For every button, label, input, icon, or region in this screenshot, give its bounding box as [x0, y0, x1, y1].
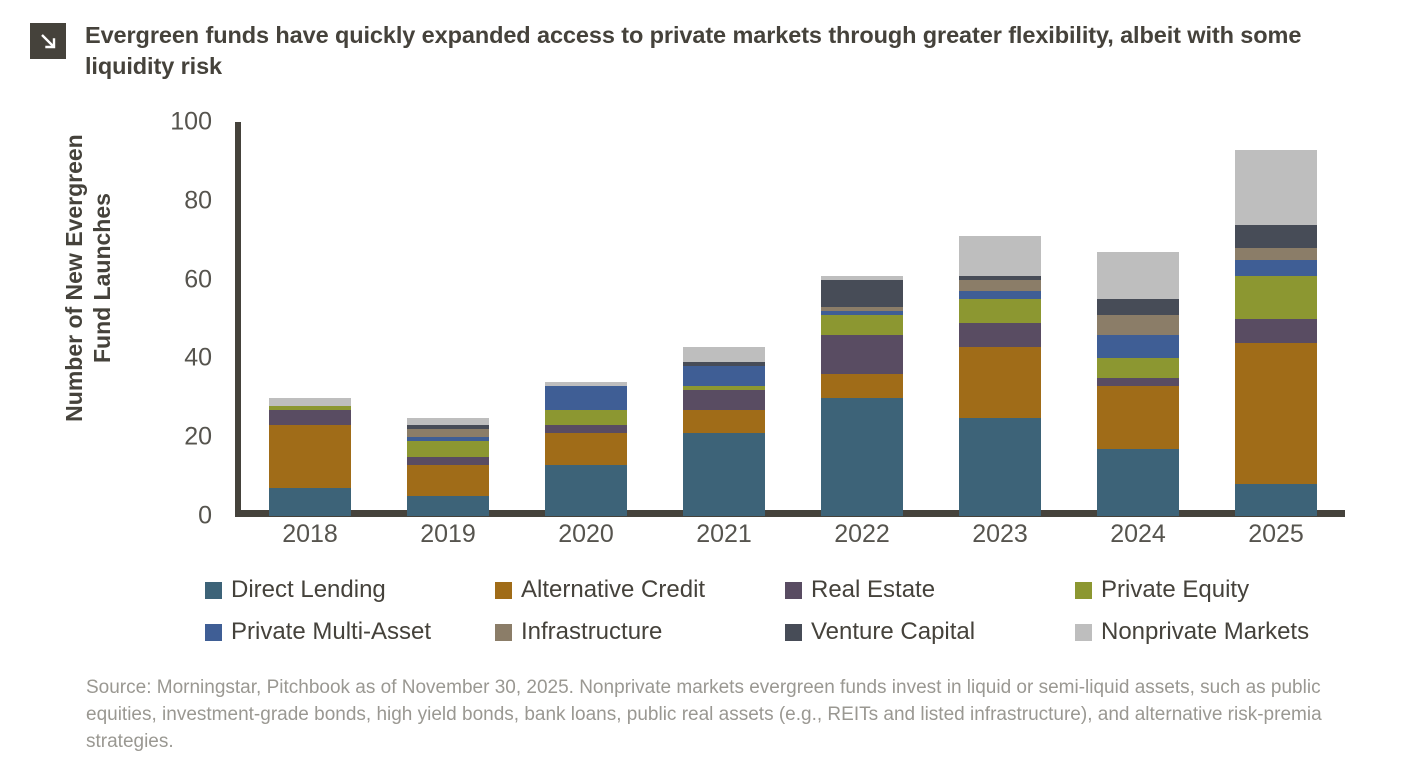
bar-segment[interactable]: [1235, 248, 1317, 260]
legend-label: Private Equity: [1101, 576, 1249, 604]
bar-segment[interactable]: [1097, 386, 1179, 449]
y-axis-title: Number of New Evergreen Fund Launches: [60, 128, 116, 428]
stacked-bar[interactable]: [269, 398, 351, 516]
plot-area: [241, 122, 1345, 516]
bar-segment[interactable]: [545, 386, 627, 410]
legend-item-direct-lending[interactable]: Direct Lending: [205, 576, 495, 604]
bar-segment[interactable]: [959, 418, 1041, 517]
bar-segment[interactable]: [1235, 343, 1317, 485]
bar-segment[interactable]: [1235, 319, 1317, 343]
bar-segment[interactable]: [269, 410, 351, 426]
x-tick-label: 2020: [517, 520, 655, 549]
bar-column-2020[interactable]: [517, 122, 655, 516]
bar-segment[interactable]: [821, 398, 903, 516]
x-tick-label: 2023: [931, 520, 1069, 549]
bar-segment[interactable]: [407, 418, 489, 426]
bar-segment[interactable]: [821, 374, 903, 398]
stacked-bar[interactable]: [821, 276, 903, 516]
bar-segment[interactable]: [269, 398, 351, 406]
bar-segment[interactable]: [1235, 225, 1317, 249]
x-tick-label: 2018: [241, 520, 379, 549]
bar-column-2018[interactable]: [241, 122, 379, 516]
legend-label: Nonprivate Markets: [1101, 618, 1309, 646]
bar-segment[interactable]: [683, 390, 765, 410]
bar-segment[interactable]: [683, 410, 765, 434]
arrow-down-right-icon: [30, 23, 66, 59]
legend-swatch-icon: [495, 582, 512, 599]
bar-segment[interactable]: [959, 347, 1041, 418]
legend-swatch-icon: [495, 624, 512, 641]
bar-segment[interactable]: [1235, 150, 1317, 225]
bar-segment[interactable]: [407, 441, 489, 457]
x-tick-label: 2019: [379, 520, 517, 549]
bar-segment[interactable]: [1235, 276, 1317, 319]
legend-swatch-icon: [1075, 624, 1092, 641]
stacked-bar[interactable]: [959, 236, 1041, 516]
bar-column-2021[interactable]: [655, 122, 793, 516]
stacked-bar[interactable]: [683, 347, 765, 516]
bar-segment[interactable]: [959, 323, 1041, 347]
bar-segment[interactable]: [1097, 378, 1179, 386]
page-title: Evergreen funds have quickly expanded ac…: [85, 20, 1325, 83]
bar-segment[interactable]: [683, 366, 765, 386]
bar-segment[interactable]: [407, 496, 489, 516]
legend-swatch-icon: [205, 624, 222, 641]
legend-swatch-icon: [785, 624, 802, 641]
chart-legend: Direct LendingAlternative CreditReal Est…: [205, 576, 1365, 646]
y-tick-label: 60: [184, 265, 212, 294]
stacked-bar[interactable]: [1235, 150, 1317, 516]
bar-segment[interactable]: [1097, 335, 1179, 359]
bar-segment[interactable]: [269, 488, 351, 516]
bar-segment[interactable]: [545, 410, 627, 426]
bar-segment[interactable]: [545, 465, 627, 516]
legend-label: Infrastructure: [521, 618, 662, 646]
bar-column-2019[interactable]: [379, 122, 517, 516]
y-tick-label: 80: [184, 186, 212, 215]
bar-segment[interactable]: [959, 236, 1041, 275]
bar-segment[interactable]: [1097, 449, 1179, 516]
bar-segment[interactable]: [1097, 252, 1179, 299]
bar-segment[interactable]: [821, 280, 903, 308]
x-tick-label: 2025: [1207, 520, 1345, 549]
x-axis-labels: 20182019202020212022202320242025: [241, 520, 1345, 549]
bar-segment[interactable]: [407, 457, 489, 465]
stacked-bar[interactable]: [1097, 252, 1179, 516]
bar-segment[interactable]: [821, 315, 903, 335]
bar-column-2025[interactable]: [1207, 122, 1345, 516]
source-note: Source: Morningstar, Pitchbook as of Nov…: [86, 675, 1341, 756]
bar-segment[interactable]: [407, 465, 489, 497]
bar-segment[interactable]: [1097, 299, 1179, 315]
x-tick-label: 2022: [793, 520, 931, 549]
bar-segment[interactable]: [1235, 484, 1317, 516]
y-tick-label: 40: [184, 344, 212, 373]
legend-item-alternative-credit[interactable]: Alternative Credit: [495, 576, 785, 604]
legend-label: Alternative Credit: [521, 576, 705, 604]
legend-swatch-icon: [785, 582, 802, 599]
bar-segment[interactable]: [269, 425, 351, 488]
legend-label: Direct Lending: [231, 576, 386, 604]
x-tick-label: 2024: [1069, 520, 1207, 549]
legend-item-private-multi-asset[interactable]: Private Multi-Asset: [205, 618, 495, 646]
legend-item-infrastructure[interactable]: Infrastructure: [495, 618, 785, 646]
chart-container: Number of New Evergreen Fund Launches 02…: [0, 100, 1424, 540]
bar-segment[interactable]: [683, 433, 765, 516]
bar-segment[interactable]: [1235, 260, 1317, 276]
bar-segment[interactable]: [1097, 315, 1179, 335]
y-tick-label: 100: [170, 108, 212, 137]
bar-segment[interactable]: [821, 335, 903, 374]
legend-item-nonprivate-markets[interactable]: Nonprivate Markets: [1075, 618, 1365, 646]
bar-column-2024[interactable]: [1069, 122, 1207, 516]
legend-label: Real Estate: [811, 576, 935, 604]
bar-segment[interactable]: [407, 429, 489, 437]
legend-swatch-icon: [205, 582, 222, 599]
legend-label: Venture Capital: [811, 618, 975, 646]
y-tick-label: 0: [198, 502, 212, 531]
y-axis-ticks: 020406080100: [150, 100, 220, 540]
legend-item-venture-capital[interactable]: Venture Capital: [785, 618, 1075, 646]
stacked-bar[interactable]: [407, 418, 489, 516]
bar-column-2022[interactable]: [793, 122, 931, 516]
bar-column-2023[interactable]: [931, 122, 1069, 516]
chart-header: Evergreen funds have quickly expanded ac…: [0, 0, 1424, 83]
bar-segment[interactable]: [959, 299, 1041, 323]
bar-segment[interactable]: [545, 433, 627, 465]
stacked-bar[interactable]: [545, 382, 627, 516]
y-tick-label: 20: [184, 423, 212, 452]
bar-segment[interactable]: [959, 280, 1041, 292]
x-tick-label: 2021: [655, 520, 793, 549]
bar-segment[interactable]: [545, 425, 627, 433]
bar-segment[interactable]: [959, 291, 1041, 299]
legend-label: Private Multi-Asset: [231, 618, 431, 646]
bar-segment[interactable]: [1097, 358, 1179, 378]
legend-item-real-estate[interactable]: Real Estate: [785, 576, 1075, 604]
bar-segment[interactable]: [683, 347, 765, 363]
legend-swatch-icon: [1075, 582, 1092, 599]
legend-item-private-equity[interactable]: Private Equity: [1075, 576, 1365, 604]
